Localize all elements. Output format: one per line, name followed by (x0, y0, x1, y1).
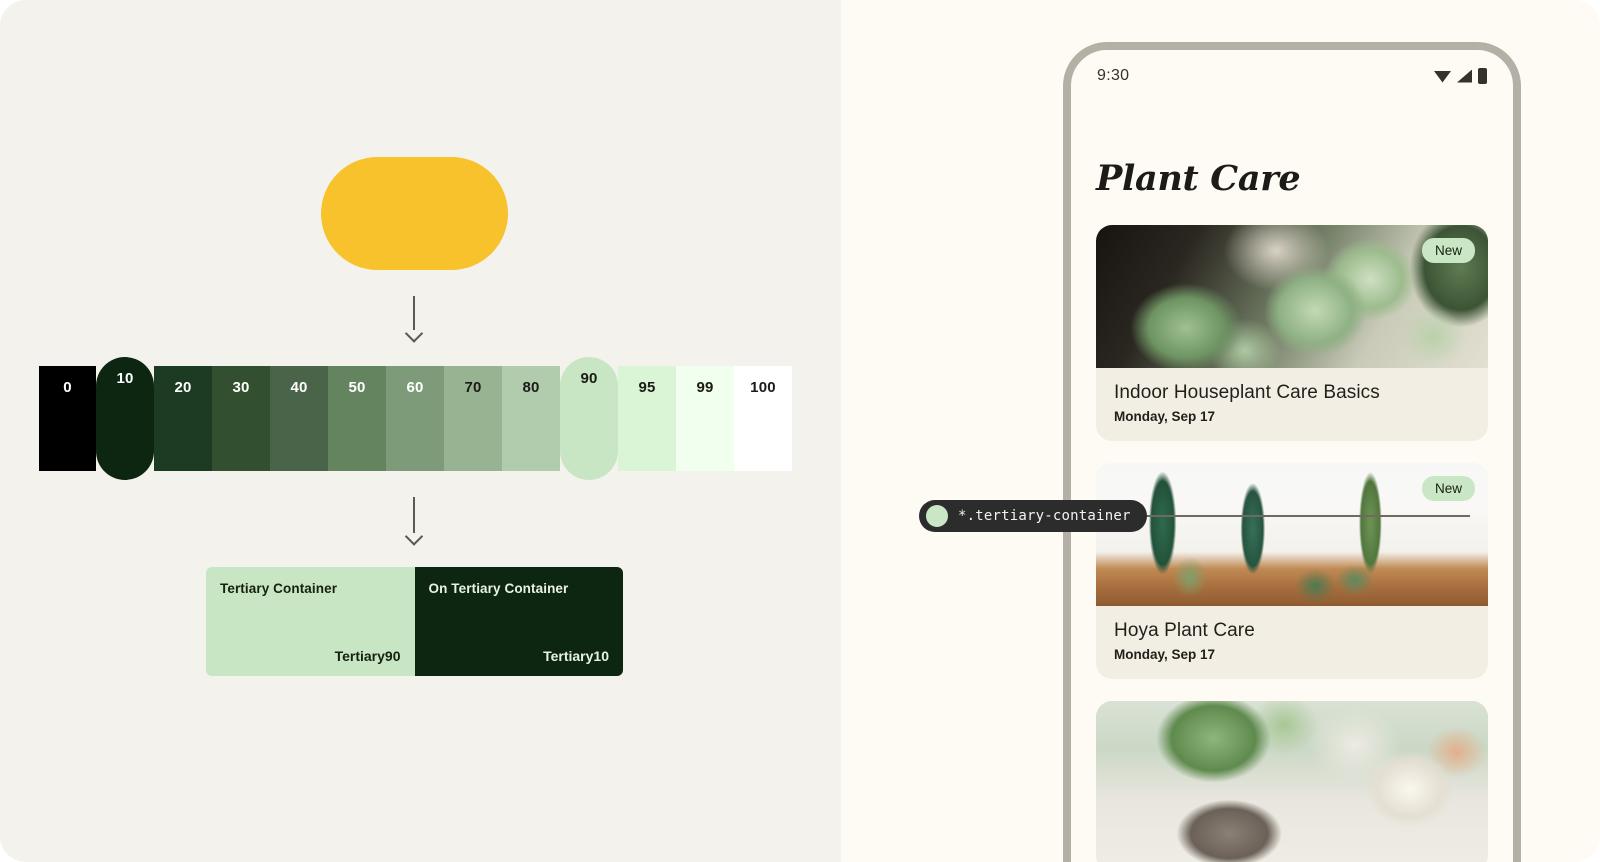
tone-swatch-90[interactable]: 90 (560, 357, 618, 480)
tone-label: 30 (232, 379, 249, 471)
tone-swatch-40[interactable]: 40 (270, 366, 328, 471)
tertiary-container-role-pair: Tertiary Container Tertiary90 On Tertiar… (206, 567, 623, 676)
status-bar-clock: 9:30 (1097, 67, 1129, 85)
tone-label: 90 (580, 370, 597, 480)
tone-label: 50 (348, 379, 365, 471)
tone-swatch-100[interactable]: 100 (734, 366, 792, 471)
inspector-tooltip[interactable]: *.tertiary-container (919, 500, 1147, 532)
card-date: Monday, Sep 17 (1114, 409, 1470, 424)
card-title: Hoya Plant Care (1114, 620, 1470, 642)
card-image: New (1096, 225, 1488, 368)
status-bar-icons (1434, 68, 1487, 84)
tertiary-container-swatch[interactable]: Tertiary Container Tertiary90 (206, 567, 415, 676)
signal-icon (1457, 70, 1472, 83)
phone-mockup: 9:30 Plant Care New Indoor Houseplant Ca… (1063, 42, 1521, 862)
color-swatch-dot (926, 505, 948, 527)
tone-label: 10 (116, 370, 133, 480)
page-title: Plant Care (1071, 102, 1513, 199)
tone-swatch-95[interactable]: 95 (618, 366, 676, 471)
tone-swatch-70[interactable]: 70 (444, 366, 502, 471)
tone-swatch-10[interactable]: 10 (96, 357, 154, 480)
tone-label: 20 (174, 379, 191, 471)
arrow-down-icon-bottom (406, 497, 422, 543)
list-item[interactable] (1096, 701, 1488, 862)
tone-label: 95 (638, 379, 655, 471)
tone-swatch-99[interactable]: 99 (676, 366, 734, 471)
inspector-token-label: *.tertiary-container (958, 508, 1131, 524)
watering-can-photo (1096, 701, 1488, 862)
status-badge: New (1422, 476, 1475, 501)
tone-label: 70 (464, 379, 481, 471)
tone-swatch-0[interactable]: 0 (39, 366, 96, 471)
status-bar: 9:30 (1071, 50, 1513, 102)
battery-icon (1478, 68, 1487, 84)
card-image: New (1096, 463, 1488, 606)
tone-label: 0 (63, 379, 72, 471)
inspector-pointer-line (1095, 515, 1470, 517)
source-color-swatch[interactable] (321, 157, 508, 270)
tone-swatch-60[interactable]: 60 (386, 366, 444, 471)
tone-swatch-30[interactable]: 30 (212, 366, 270, 471)
tone-label: 60 (406, 379, 423, 471)
arrow-down-icon-top (406, 296, 422, 340)
card-body: Hoya Plant Care Monday, Sep 17 (1096, 606, 1488, 679)
tone-label: 40 (290, 379, 307, 471)
list-item[interactable]: New Indoor Houseplant Care Basics Monday… (1096, 225, 1488, 441)
tone-label: 80 (522, 379, 539, 471)
wifi-icon (1434, 70, 1451, 83)
card-image (1096, 701, 1488, 862)
list-item[interactable]: New Hoya Plant Care Monday, Sep 17 (1096, 463, 1488, 679)
tone-swatch-50[interactable]: 50 (328, 366, 386, 471)
on-tertiary-container-swatch[interactable]: On Tertiary Container Tertiary10 (415, 567, 624, 676)
card-title: Indoor Houseplant Care Basics (1114, 382, 1470, 404)
tone-swatch-20[interactable]: 20 (154, 366, 212, 471)
status-badge: New (1422, 238, 1475, 263)
tertiary-container-tone: Tertiary90 (220, 648, 401, 664)
tertiary-container-label: Tertiary Container (220, 581, 401, 596)
tone-swatch-80[interactable]: 80 (502, 366, 560, 471)
tone-label: 100 (750, 379, 776, 471)
on-tertiary-container-label: On Tertiary Container (429, 581, 610, 596)
tone-label: 99 (696, 379, 713, 471)
screenshot-root: 01020304050607080909599100 Tertiary Cont… (0, 0, 1600, 862)
on-tertiary-container-tone: Tertiary10 (429, 648, 610, 664)
card-body: Indoor Houseplant Care Basics Monday, Se… (1096, 368, 1488, 441)
card-date: Monday, Sep 17 (1114, 647, 1470, 662)
tonal-palette: 01020304050607080909599100 (39, 366, 792, 471)
